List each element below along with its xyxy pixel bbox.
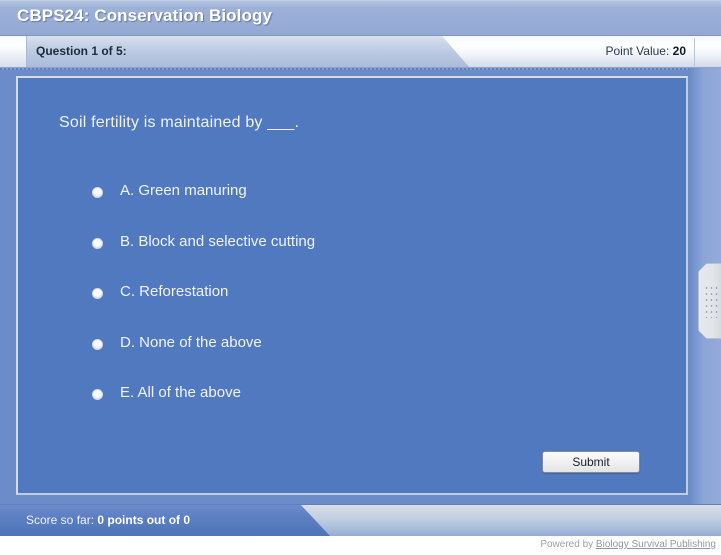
- question-panel: Soil fertility is maintained by ___. A. …: [16, 76, 688, 495]
- powered-by-text: Powered by Biology Survival Publishing: [540, 539, 716, 550]
- answer-option-row[interactable]: A. Green manuring: [92, 182, 612, 233]
- point-value-prefix: Point Value:: [605, 44, 672, 58]
- score-status-bar: Score so far: 0 points out of 0: [0, 504, 721, 536]
- score-bar-top-rule: [0, 504, 721, 505]
- question-prompt: Soil fertility is maintained by ___.: [59, 114, 299, 132]
- point-value-label: Point Value: 20: [605, 44, 686, 58]
- tab-left-cap: [0, 36, 26, 68]
- answer-option-label[interactable]: E. All of the above: [120, 384, 241, 401]
- title-bar: CBPS24: Conservation Biology: [0, 0, 721, 36]
- radio-button-icon[interactable]: [92, 187, 103, 198]
- question-counter-label: Question 1 of 5:: [36, 44, 127, 58]
- radio-button-icon[interactable]: [92, 339, 103, 350]
- answer-option-row[interactable]: B. Block and selective cutting: [92, 233, 612, 284]
- body-top-edge: [0, 68, 721, 70]
- answer-option-row[interactable]: C. Reforestation: [92, 283, 612, 334]
- score-text: Score so far: 0 points out of 0: [26, 513, 190, 527]
- publisher-link[interactable]: Biology Survival Publishing: [596, 539, 716, 550]
- point-value-number: 20: [673, 44, 686, 58]
- radio-button-icon[interactable]: [92, 238, 103, 249]
- radio-button-icon[interactable]: [92, 389, 103, 400]
- answer-option-label[interactable]: C. Reforestation: [120, 283, 228, 300]
- submit-button[interactable]: Submit: [542, 451, 640, 473]
- quiz-application-window: CBPS24: Conservation Biology Question 1 …: [0, 0, 721, 555]
- answer-option-label[interactable]: D. None of the above: [120, 334, 262, 351]
- course-title: CBPS24: Conservation Biology: [17, 6, 272, 26]
- powered-by-prefix: Powered by: [540, 539, 596, 550]
- radio-button-icon[interactable]: [92, 288, 103, 299]
- answer-option-row[interactable]: D. None of the above: [92, 334, 612, 385]
- header-right-divider: [694, 38, 695, 66]
- score-value: 0 points out of 0: [97, 513, 190, 527]
- grip-dots-icon: [704, 285, 719, 318]
- answer-option-label[interactable]: A. Green manuring: [120, 182, 247, 199]
- footer-bar: Powered by Biology Survival Publishing: [0, 536, 721, 555]
- answer-option-row[interactable]: E. All of the above: [92, 384, 612, 435]
- answer-options-list: A. Green manuring B. Block and selective…: [92, 182, 612, 435]
- question-header-strip: Question 1 of 5: Point Value: 20: [0, 36, 721, 68]
- score-prefix: Score so far:: [26, 513, 97, 527]
- answer-option-label[interactable]: B. Block and selective cutting: [120, 233, 315, 250]
- tab-notch-divider: [26, 36, 27, 68]
